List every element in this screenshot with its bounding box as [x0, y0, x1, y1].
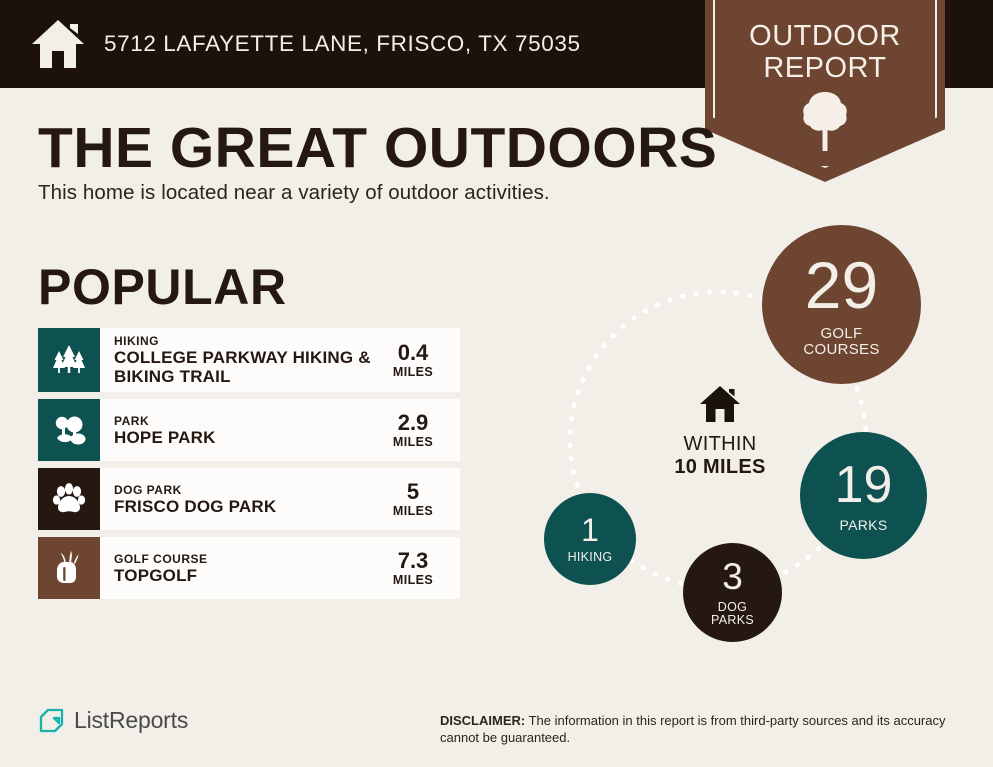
stat-bubble-golf-courses[interactable]: 29 GOLF COURSES	[762, 225, 921, 384]
stat-label-line2: COURSES	[803, 342, 879, 358]
row-name: FRISCO DOG PARK	[114, 497, 374, 516]
outdoor-report-page: 5712 LAFAYETTE LANE, FRISCO, TX 75035 OU…	[0, 0, 993, 767]
listreports-logo[interactable]: ListReports	[38, 707, 188, 734]
listreports-house-tag-icon	[38, 707, 65, 734]
stat-label: GOLF COURSES	[803, 326, 879, 358]
row-name: TOPGOLF	[114, 566, 374, 585]
center-line1: WITHIN	[655, 433, 785, 456]
paw-print-icon	[49, 479, 89, 519]
row-distance-unit: MILES	[393, 573, 433, 587]
row-name: COLLEGE PARKWAY HIKING & BIKING TRAIL	[114, 348, 374, 386]
row-distance-value: 7.3	[398, 549, 429, 573]
row-name: HOPE PARK	[114, 428, 374, 447]
row-category: GOLF COURSE	[114, 552, 374, 566]
outdoor-report-badge: OUTDOOR REPORT	[705, 0, 945, 182]
popular-list: HIKING COLLEGE PARKWAY HIKING & BIKING T…	[38, 328, 460, 606]
pine-trees-icon	[49, 340, 89, 380]
row-icon-tile	[38, 468, 100, 530]
row-text: HIKING COLLEGE PARKWAY HIKING & BIKING T…	[100, 328, 374, 392]
stat-label: DOG PARKS	[711, 601, 754, 627]
diagram-center: WITHIN 10 MILES	[655, 385, 785, 479]
stat-label: HIKING	[568, 551, 613, 564]
list-item[interactable]: GOLF COURSE TOPGOLF 7.3 MILES	[38, 537, 460, 599]
row-distance: 5 MILES	[374, 468, 460, 530]
golf-bag-icon	[49, 548, 89, 588]
disclaimer: DISCLAIMER: The information in this repo…	[440, 712, 955, 746]
tree-icon	[800, 90, 850, 152]
list-item[interactable]: PARK HOPE PARK 2.9 MILES	[38, 399, 460, 461]
row-distance-value: 5	[407, 480, 419, 504]
badge-title-line1: OUTDOOR	[705, 20, 945, 53]
row-distance-unit: MILES	[393, 435, 433, 449]
center-line2: 10 MILES	[655, 456, 785, 479]
page-title: THE GREAT OUTDOORS	[38, 115, 717, 181]
row-text: GOLF COURSE TOPGOLF	[100, 537, 374, 599]
stat-label-line1: GOLF	[803, 326, 879, 342]
row-distance: 2.9 MILES	[374, 399, 460, 461]
row-distance: 0.4 MILES	[374, 328, 460, 392]
row-distance-value: 2.9	[398, 411, 429, 435]
row-icon-tile	[38, 328, 100, 392]
page-subtitle: This home is located near a variety of o…	[38, 181, 550, 205]
property-address: 5712 LAFAYETTE LANE, FRISCO, TX 75035	[104, 31, 581, 57]
row-category: HIKING	[114, 334, 374, 348]
row-category: PARK	[114, 414, 374, 428]
row-text: PARK HOPE PARK	[100, 399, 374, 461]
stat-value: 29	[805, 252, 878, 318]
row-text: DOG PARK FRISCO DOG PARK	[100, 468, 374, 530]
row-distance: 7.3 MILES	[374, 537, 460, 599]
badge-title-line2: REPORT	[705, 52, 945, 85]
stat-bubble-dog-parks[interactable]: 3 DOG PARKS	[683, 543, 782, 642]
home-icon	[699, 385, 741, 423]
stat-value: 19	[835, 459, 893, 511]
row-icon-tile	[38, 399, 100, 461]
popular-heading: POPULAR	[38, 258, 287, 316]
list-item[interactable]: HIKING COLLEGE PARKWAY HIKING & BIKING T…	[38, 328, 460, 392]
row-distance-unit: MILES	[393, 365, 433, 379]
within-10-miles-diagram: 29 GOLF COURSES 19 PARKS 3 DOG PARKS 1 H…	[500, 225, 960, 670]
disclaimer-label: DISCLAIMER:	[440, 713, 525, 728]
list-item[interactable]: DOG PARK FRISCO DOG PARK 5 MILES	[38, 468, 460, 530]
park-trees-icon	[49, 410, 89, 450]
stat-bubble-hiking[interactable]: 1 HIKING	[544, 493, 636, 585]
home-icon	[30, 18, 86, 70]
stat-label: PARKS	[840, 518, 888, 533]
row-distance-value: 0.4	[398, 341, 429, 365]
listreports-logo-text: ListReports	[74, 707, 188, 734]
row-icon-tile	[38, 537, 100, 599]
stat-value: 3	[722, 558, 743, 595]
stat-label-line2: PARKS	[711, 614, 754, 627]
row-category: DOG PARK	[114, 483, 374, 497]
row-distance-unit: MILES	[393, 504, 433, 518]
stat-value: 1	[581, 514, 599, 546]
stat-bubble-parks[interactable]: 19 PARKS	[800, 432, 927, 559]
